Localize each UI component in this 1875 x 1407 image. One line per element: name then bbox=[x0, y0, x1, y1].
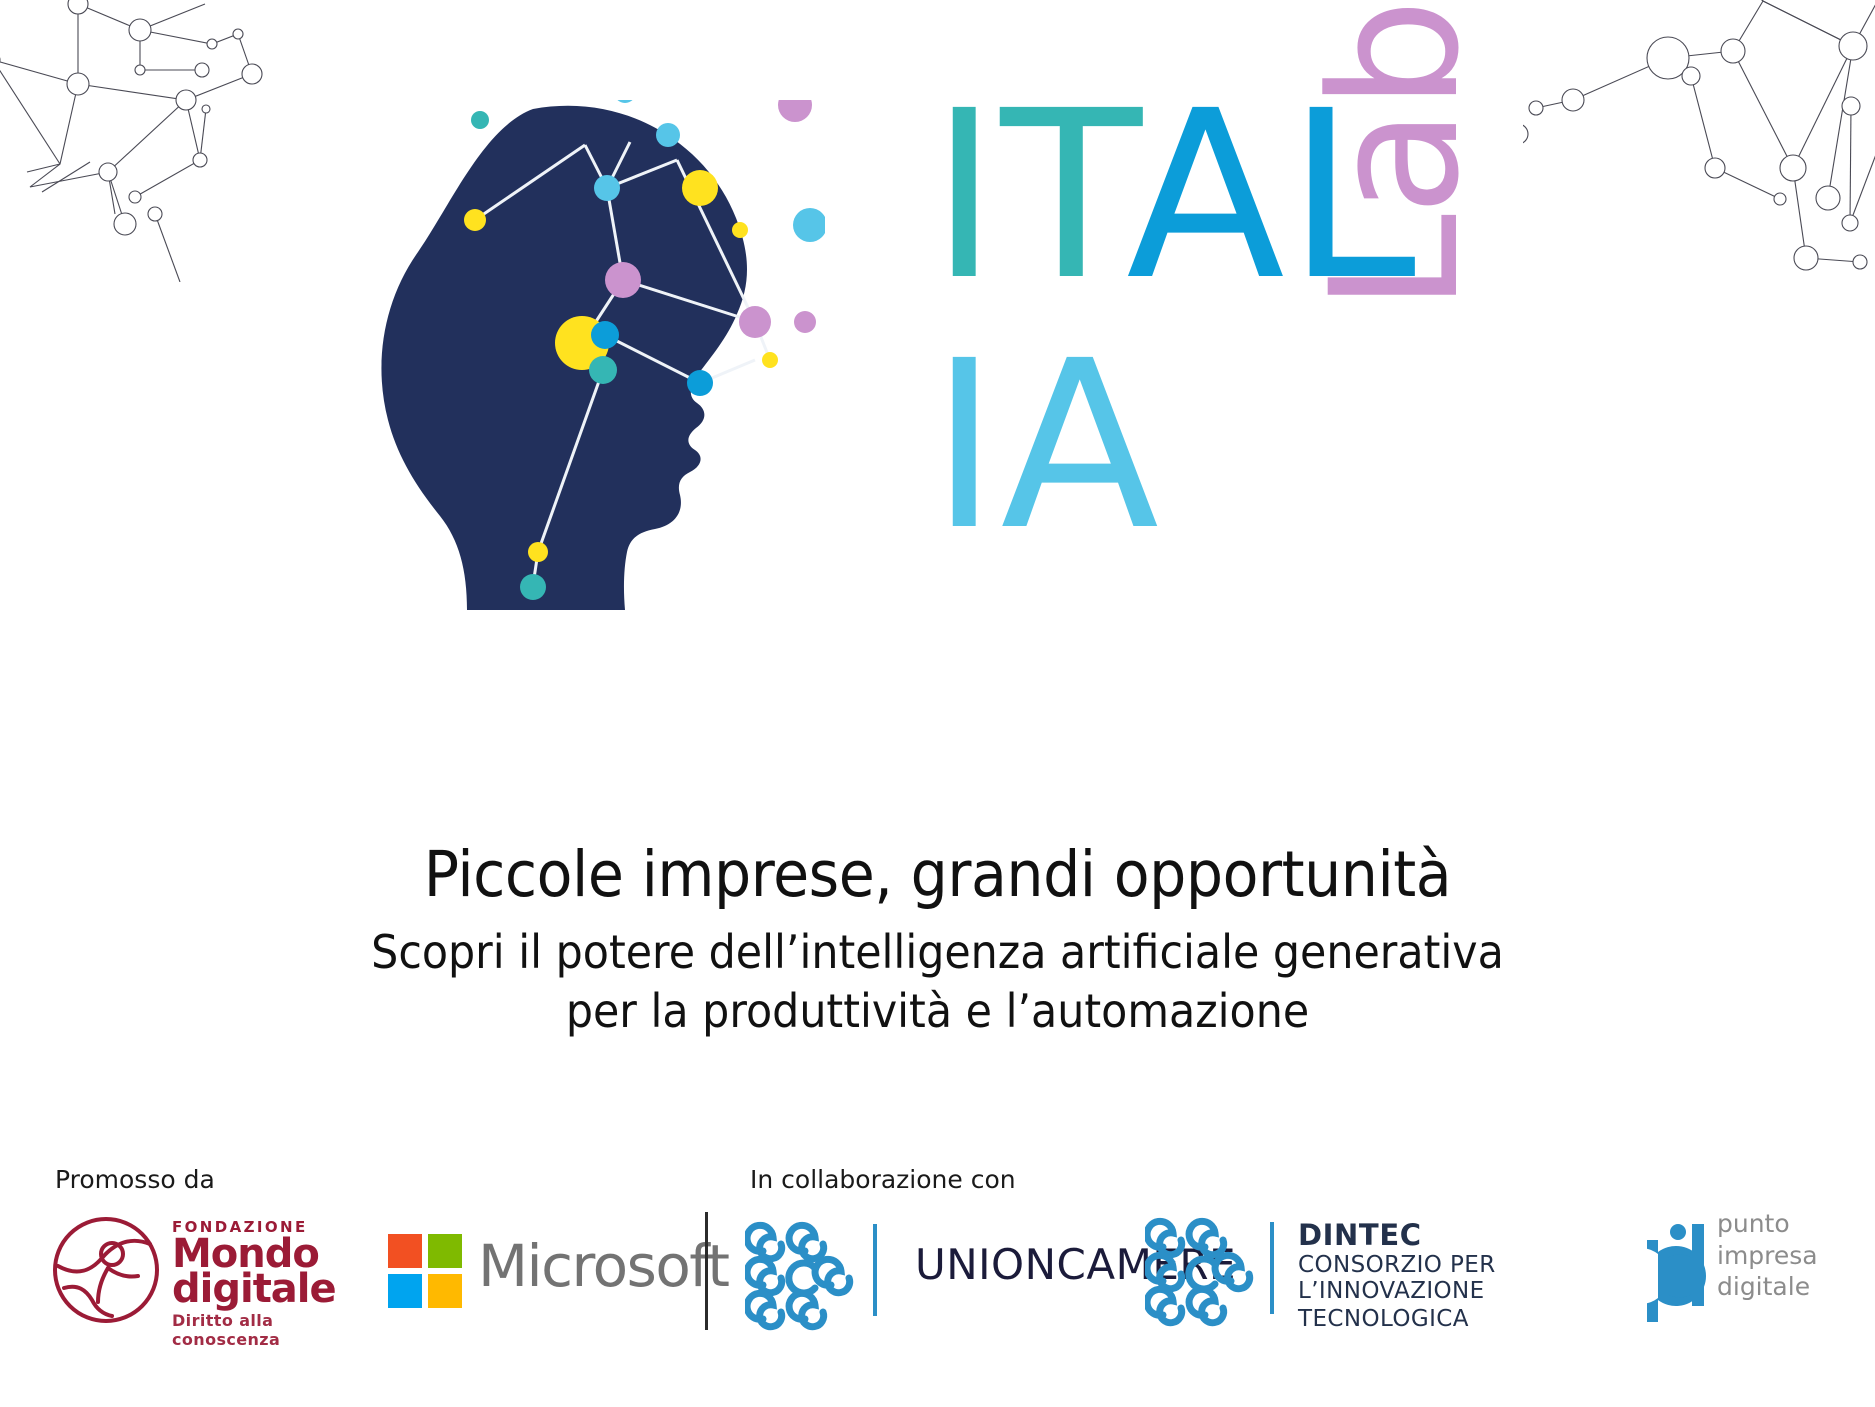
dintec-mark-icon bbox=[1145, 1212, 1265, 1332]
fmd-claim: Diritto alla conoscenza bbox=[172, 1311, 347, 1349]
microsoft-square-red bbox=[388, 1234, 422, 1268]
wordmark-line-ia: IA bbox=[930, 330, 1161, 562]
promoted-by-label: Promosso da bbox=[55, 1165, 215, 1194]
hero-logo-block: ITAL IA Lab bbox=[0, 70, 1875, 670]
italia-lab-wordmark: ITAL IA Lab bbox=[930, 80, 1530, 620]
page-subtitle-line-2: per la produttività e l’automazione bbox=[66, 982, 1810, 1042]
pid-mark-icon bbox=[1645, 1206, 1717, 1324]
fmd-wordmark: FONDAZIONE Mondo digitale Diritto alla c… bbox=[172, 1218, 347, 1349]
logo-fondazione-mondo-digitale[interactable]: FONDAZIONE Mondo digitale Diritto alla c… bbox=[50, 1212, 340, 1332]
logo-microsoft[interactable]: Microsoft bbox=[388, 1226, 678, 1316]
collaboration-label: In collaborazione con bbox=[750, 1165, 1016, 1194]
microsoft-square-yellow bbox=[428, 1274, 462, 1308]
dintec-descriptor-line-2: TECNOLOGICA bbox=[1298, 1307, 1610, 1333]
unioncamere-mark-icon bbox=[745, 1216, 865, 1336]
wordmark-lab-rotated: Lab bbox=[1308, 0, 1484, 312]
unioncamere-divider bbox=[873, 1224, 877, 1316]
page-subtitle-line-1: Scopri il potere dell’intelligenza artif… bbox=[66, 923, 1810, 983]
footer-divider bbox=[705, 1212, 708, 1330]
pid-name-line-2: impresa bbox=[1717, 1240, 1818, 1272]
wordmark-letter-i2: I bbox=[930, 311, 1000, 581]
microsoft-wordmark: Microsoft bbox=[478, 1232, 728, 1300]
dintec-descriptor-line-1: CONSORZIO PER L’INNOVAZIONE bbox=[1298, 1253, 1610, 1305]
wordmark-letter-i1: I bbox=[930, 61, 1000, 331]
wordmark-letter-t: T bbox=[1000, 61, 1126, 331]
page-title: Piccole imprese, grandi opportunità bbox=[66, 840, 1810, 911]
logo-unioncamere[interactable]: UNIONCAMERE bbox=[745, 1222, 1165, 1322]
footer-logos: Promosso da In collaborazione con FONDAZ… bbox=[0, 1140, 1875, 1407]
pid-name-line-1: punto bbox=[1717, 1208, 1818, 1240]
fmd-globe-icon bbox=[50, 1214, 162, 1326]
hero-text-block: Piccole imprese, grandi opportunità Scop… bbox=[0, 840, 1875, 1042]
microsoft-square-green bbox=[428, 1234, 462, 1268]
dintec-name: DINTEC bbox=[1298, 1220, 1610, 1251]
dintec-wordmark: DINTEC CONSORZIO PER L’INNOVAZIONE TECNO… bbox=[1298, 1220, 1610, 1333]
pid-name-line-3: digitale bbox=[1717, 1271, 1818, 1303]
ai-head-illustration-icon bbox=[355, 100, 825, 620]
logo-punto-impresa-digitale[interactable]: punto impresa digitale bbox=[1645, 1202, 1865, 1322]
fmd-name-line-2: digitale bbox=[172, 1272, 347, 1307]
slide-canvas: ITAL IA Lab Piccole imprese, grandi oppo… bbox=[0, 0, 1875, 1407]
wordmark-letter-a1: A bbox=[1126, 61, 1287, 331]
microsoft-square-blue bbox=[388, 1274, 422, 1308]
microsoft-squares-icon bbox=[388, 1234, 462, 1308]
dintec-divider bbox=[1270, 1222, 1274, 1314]
logo-dintec[interactable]: DINTEC CONSORZIO PER L’INNOVAZIONE TECNO… bbox=[1150, 1220, 1610, 1325]
pid-wordmark: punto impresa digitale bbox=[1717, 1208, 1818, 1303]
wordmark-letter-a2: A bbox=[1000, 311, 1161, 581]
